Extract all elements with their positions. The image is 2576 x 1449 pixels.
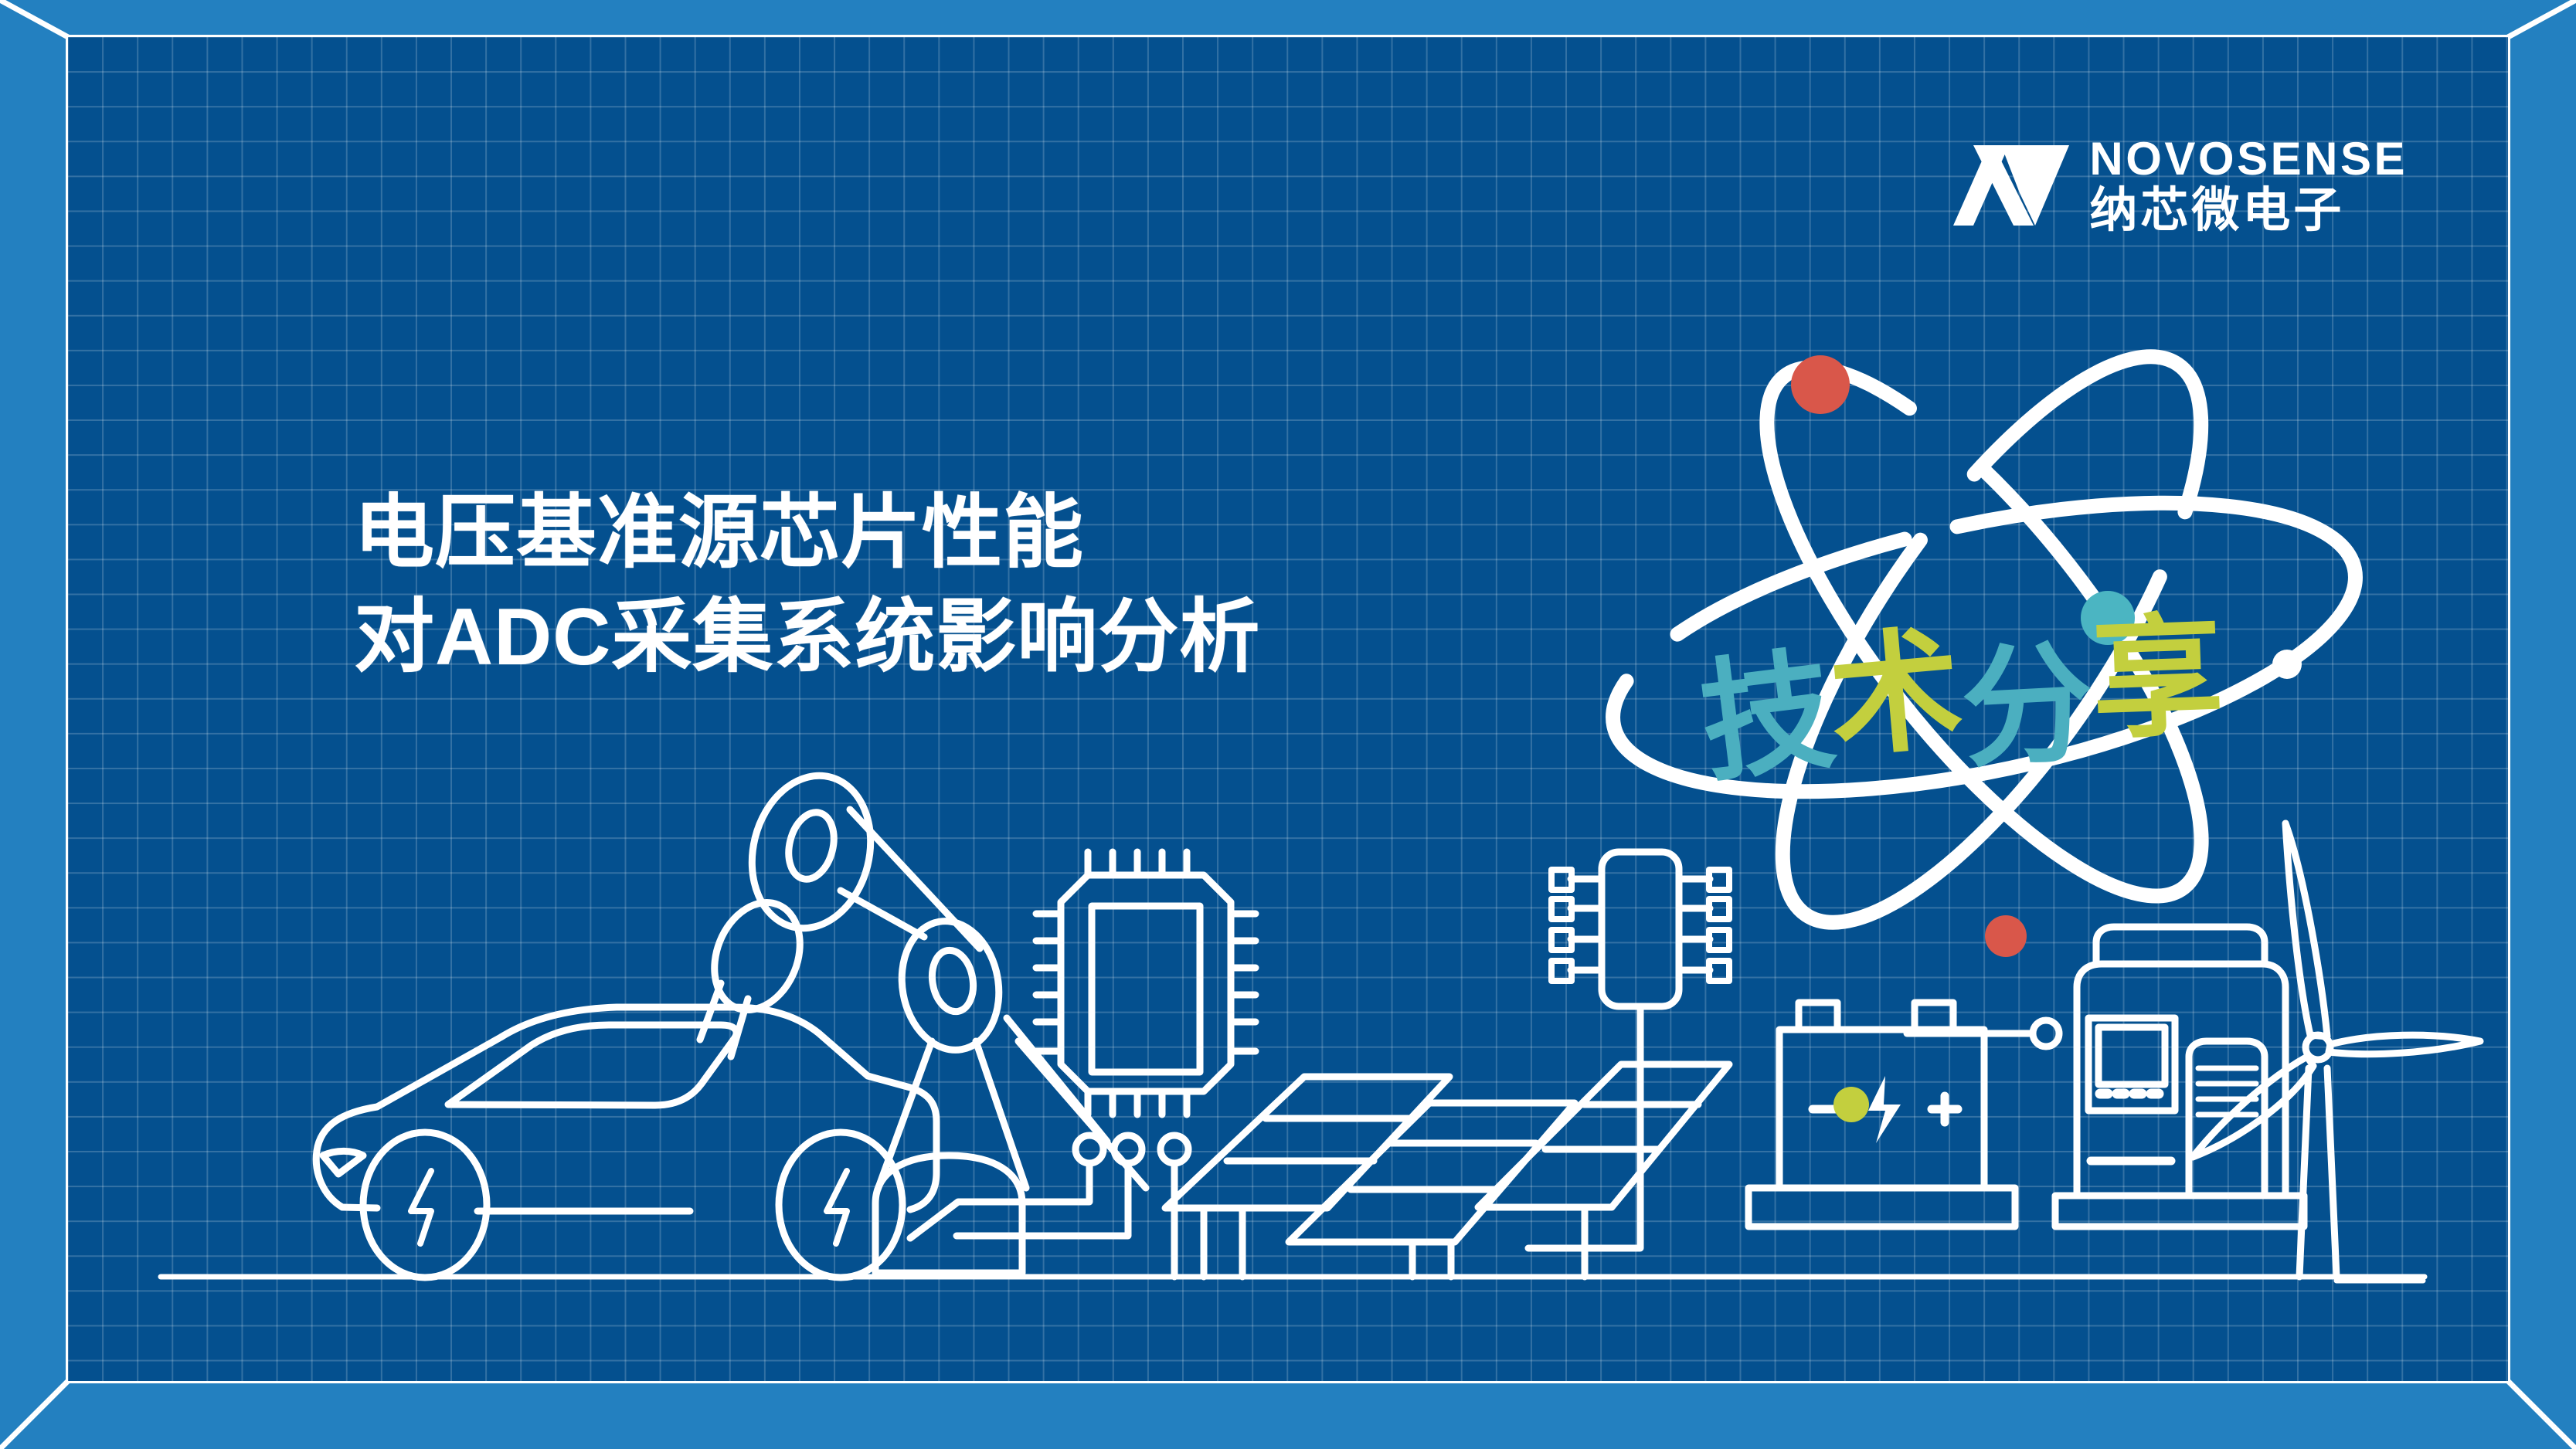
brand-name-cn: 纳芯微电子: [2089, 187, 2408, 235]
electron-top-left: [1791, 355, 1850, 414]
electron-bottom-left: [1833, 1087, 1869, 1122]
page-title: 电压基准源芯片性能 对ADC采集系统影响分析: [354, 481, 1260, 690]
badge-char-1: 技: [1694, 644, 1840, 790]
novosense-nv-mark-icon: [1953, 139, 2069, 232]
electron-lower-mid: [1985, 915, 2027, 957]
brand-name-en: NOVOSENSE: [2089, 136, 2408, 182]
badge-char-4: 享: [2090, 611, 2226, 747]
page-title-line-1: 电压基准源芯片性能: [354, 481, 1260, 585]
badge-char-3: 分: [1959, 638, 2097, 776]
slide-root: 电压基准源芯片性能 对ADC采集系统影响分析 技 术 分 享 NOVOSENSE: [0, 0, 2576, 1449]
blueprint-board: 电压基准源芯片性能 对ADC采集系统影响分析 技 术 分 享 NOVOSENSE: [68, 37, 2508, 1381]
electron-far-right: [2272, 650, 2302, 679]
topic-badge: 技 术 分 享: [1698, 624, 2224, 755]
brand-logo: NOVOSENSE 纳芯微电子: [1953, 136, 2408, 235]
brand-logo-text: NOVOSENSE 纳芯微电子: [2089, 136, 2408, 235]
badge-char-2: 术: [1824, 623, 1966, 765]
page-title-line-2: 对ADC采集系统影响分析: [354, 585, 1260, 690]
